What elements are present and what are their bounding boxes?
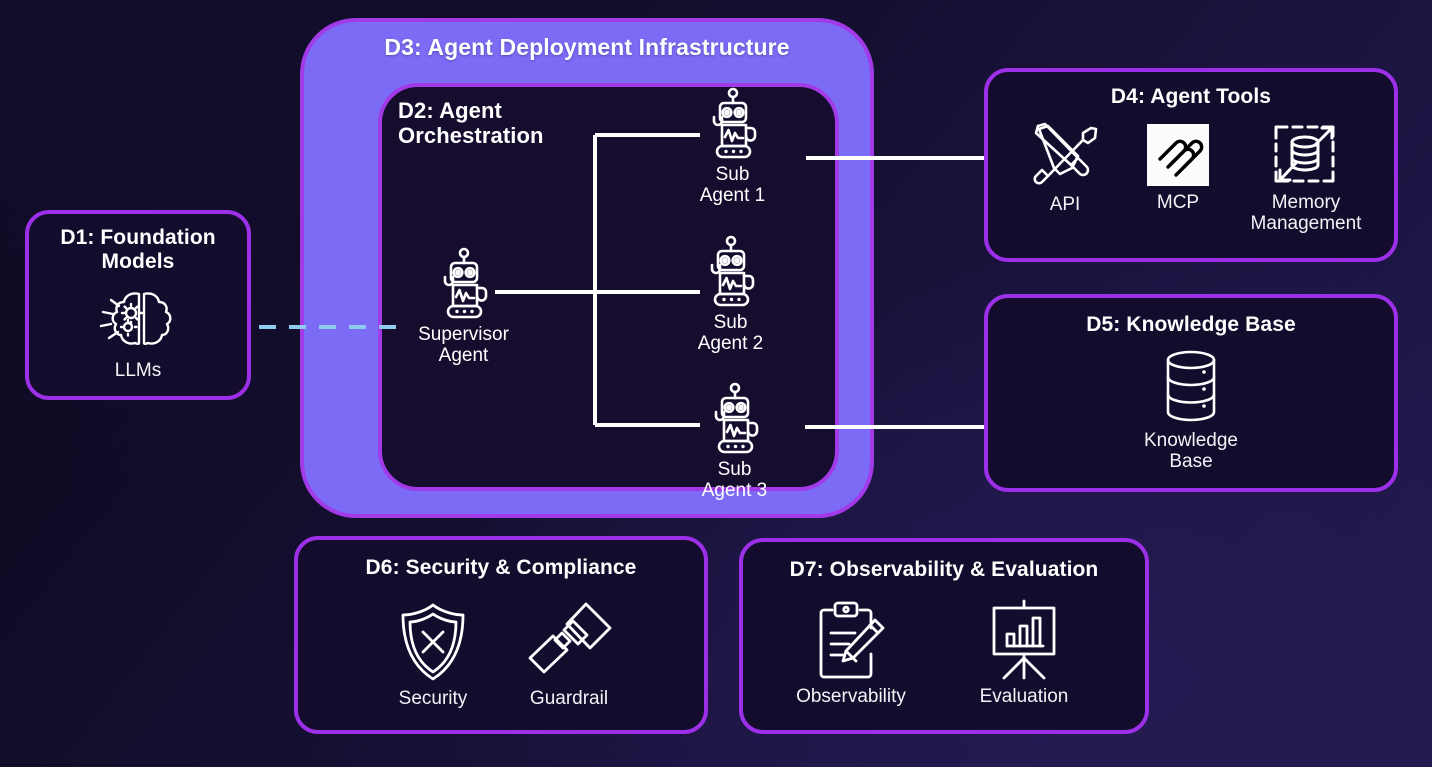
d4-title: D4: Agent Tools xyxy=(988,85,1394,109)
group-d6-security-compliance[interactable]: D6: Security & Compliance Security xyxy=(294,536,708,734)
seatbelt-buckle-icon xyxy=(526,602,612,682)
item-knowledge-base[interactable]: Knowledge Base xyxy=(988,350,1394,473)
node-sub-agent-3[interactable]: Sub Agent 3 xyxy=(692,383,777,502)
group-d4-agent-tools[interactable]: D4: Agent Tools xyxy=(984,68,1398,262)
brain-gears-icon xyxy=(95,286,181,352)
item-evaluation-label: Evaluation xyxy=(980,686,1069,707)
shield-x-icon xyxy=(397,602,469,682)
robot-icon xyxy=(432,248,496,322)
item-mcp-label: MCP xyxy=(1157,192,1199,213)
item-guardrail-label: Guardrail xyxy=(530,688,608,709)
group-d1-foundation-models[interactable]: D1: Foundation Models xyxy=(25,210,251,400)
d3-title: D3: Agent Deployment Infrastructure xyxy=(304,35,870,61)
mcp-logo-icon xyxy=(1147,124,1209,186)
clipboard-pencil-icon xyxy=(813,600,889,682)
item-api[interactable]: API xyxy=(1010,120,1120,215)
item-mcp[interactable]: MCP xyxy=(1123,124,1233,213)
group-d5-knowledge-base[interactable]: D5: Knowledge Base Knowledge Base xyxy=(984,294,1398,492)
screwdriver-wrench-icon xyxy=(1030,120,1100,190)
node-supervisor-agent[interactable]: Supervisor Agent xyxy=(421,248,506,367)
node-sub-agent-2[interactable]: Sub Agent 2 xyxy=(688,236,773,355)
item-llms[interactable]: LLMs xyxy=(29,286,247,381)
robot-icon xyxy=(699,236,763,310)
item-memory-management-label: Memory Management xyxy=(1251,192,1362,235)
bar-chart-easel-icon xyxy=(987,600,1061,682)
group-d7-observability-evaluation[interactable]: D7: Observability & Evaluation xyxy=(739,538,1149,734)
item-guardrail[interactable]: Guardrail xyxy=(494,602,644,709)
item-api-label: API xyxy=(1050,194,1081,215)
supervisor-agent-label: Supervisor Agent xyxy=(418,325,509,367)
item-evaluation[interactable]: Evaluation xyxy=(949,600,1099,707)
d6-title: D6: Security & Compliance xyxy=(298,556,704,580)
d5-title: D5: Knowledge Base xyxy=(988,313,1394,337)
memory-database-icon xyxy=(1270,118,1342,190)
item-llms-label: LLMs xyxy=(115,360,161,381)
item-security-label: Security xyxy=(399,688,468,709)
diagram-canvas: D3: Agent Deployment Infrastructure D2: … xyxy=(0,0,1432,767)
item-memory-management[interactable]: Memory Management xyxy=(1236,118,1376,235)
item-security[interactable]: Security xyxy=(368,602,498,709)
d7-title: D7: Observability & Evaluation xyxy=(743,558,1145,582)
sub-agent-1-label: Sub Agent 1 xyxy=(690,165,775,207)
sub-agent-3-label: Sub Agent 3 xyxy=(692,460,777,502)
sub-agent-2-label: Sub Agent 2 xyxy=(688,313,773,355)
item-observability-label: Observability xyxy=(796,686,906,707)
node-sub-agent-1[interactable]: Sub Agent 1 xyxy=(690,88,775,207)
database-icon xyxy=(1158,350,1224,426)
d2-title: D2: Agent Orchestration xyxy=(398,99,638,148)
robot-icon xyxy=(701,88,765,162)
robot-icon xyxy=(703,383,767,457)
item-knowledge-base-label: Knowledge Base xyxy=(1144,430,1238,473)
item-observability[interactable]: Observability xyxy=(771,600,931,707)
d1-title: D1: Foundation Models xyxy=(29,226,247,273)
